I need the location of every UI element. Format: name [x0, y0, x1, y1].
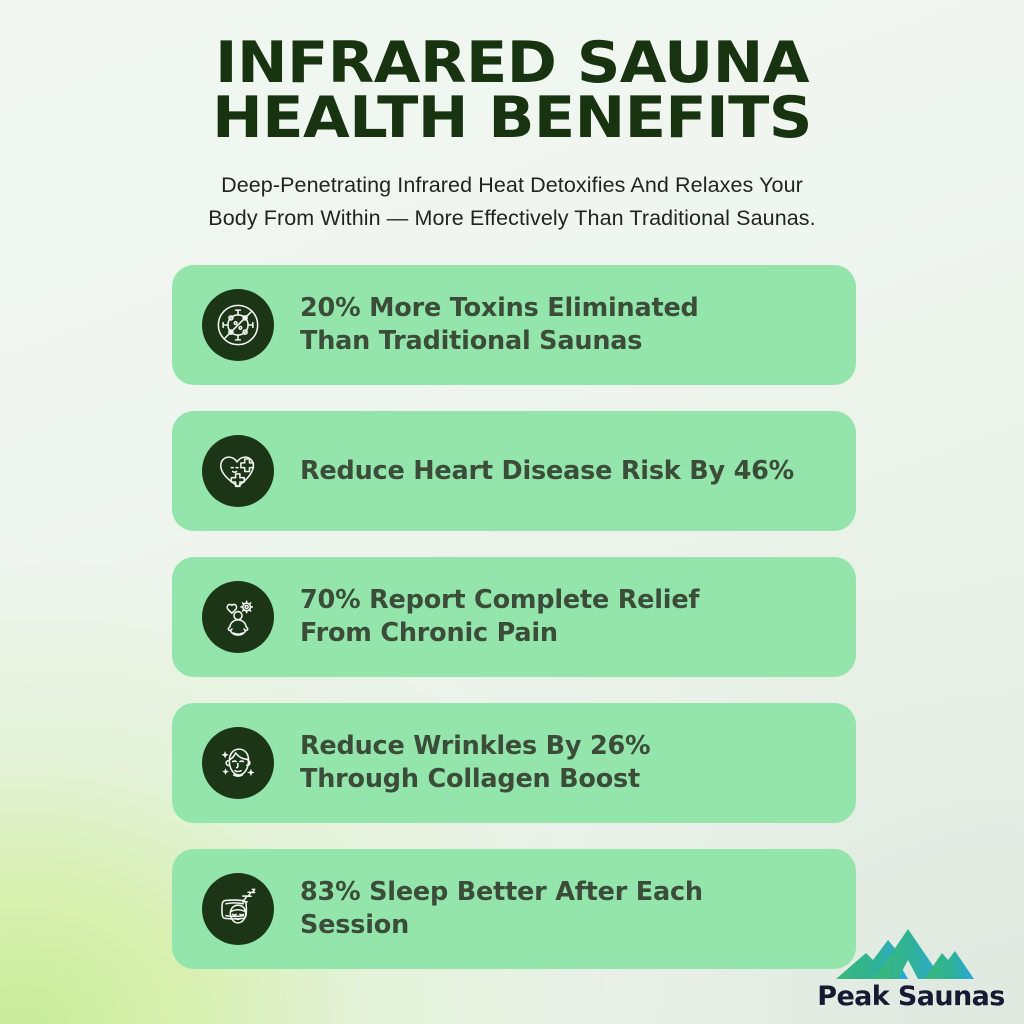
title-line-2: HEALTH BENEFITS — [12, 91, 1013, 146]
logo-wordmark: Peak Saunas — [816, 983, 1006, 1010]
benefit-line-2: Than Traditional Saunas — [300, 326, 642, 356]
infographic-poster: INFRARED SAUNA HEALTH BENEFITS Deep-Pene… — [0, 0, 1024, 1024]
skincare-face-icon — [202, 727, 274, 799]
benefit-card-heart: Reduce Heart Disease Risk By 46% — [172, 411, 856, 531]
benefit-line-1: Reduce Wrinkles By 26% — [300, 731, 650, 761]
benefit-card-list: 20% More Toxins Eliminated Than Traditio… — [172, 265, 856, 969]
benefit-line-2: From Chronic Pain — [300, 618, 558, 648]
benefit-card-pain-relief: 70% Report Complete Relief From Chronic … — [172, 557, 856, 677]
page-title: INFRARED SAUNA HEALTH BENEFITS — [12, 36, 1013, 147]
benefit-text: Reduce Heart Disease Risk By 46% — [300, 455, 794, 488]
brand-logo: Peak Saunas — [816, 927, 1006, 1010]
page-subtitle: Deep-Penetrating Infrared Heat Detoxifie… — [147, 169, 877, 236]
benefit-text: 83% Sleep Better After Each Session — [300, 876, 703, 942]
no-virus-icon — [202, 289, 274, 361]
benefit-text: 20% More Toxins Eliminated Than Traditio… — [300, 292, 699, 358]
heart-health-icon — [202, 435, 274, 507]
subtitle-line-1: Deep-Penetrating Infrared Heat Detoxifie… — [147, 169, 877, 202]
benefit-line-1: 70% Report Complete Relief — [300, 585, 699, 615]
sleeping-face-icon — [202, 873, 274, 945]
benefit-text: 70% Report Complete Relief From Chronic … — [300, 584, 699, 650]
subtitle-line-2: Body From Within — More Effectively Than… — [147, 202, 877, 235]
benefit-card-toxins: 20% More Toxins Eliminated Than Traditio… — [172, 265, 856, 385]
benefit-card-sleep: 83% Sleep Better After Each Session — [172, 849, 856, 969]
benefit-line-1: Reduce Heart Disease Risk By 46% — [300, 456, 794, 486]
title-line-1: INFRARED SAUNA — [12, 36, 1013, 91]
poster-header: INFRARED SAUNA HEALTH BENEFITS Deep-Pene… — [0, 0, 1024, 235]
benefit-line-1: 20% More Toxins Eliminated — [300, 293, 699, 323]
benefit-line-1: 83% Sleep Better After Each — [300, 877, 703, 907]
benefit-text: Reduce Wrinkles By 26% Through Collagen … — [300, 730, 650, 796]
benefit-card-wrinkles: Reduce Wrinkles By 26% Through Collagen … — [172, 703, 856, 823]
meditation-icon — [202, 581, 274, 653]
mountain-icon — [836, 927, 986, 981]
benefit-line-2: Session — [300, 910, 409, 940]
benefit-line-2: Through Collagen Boost — [300, 764, 640, 794]
